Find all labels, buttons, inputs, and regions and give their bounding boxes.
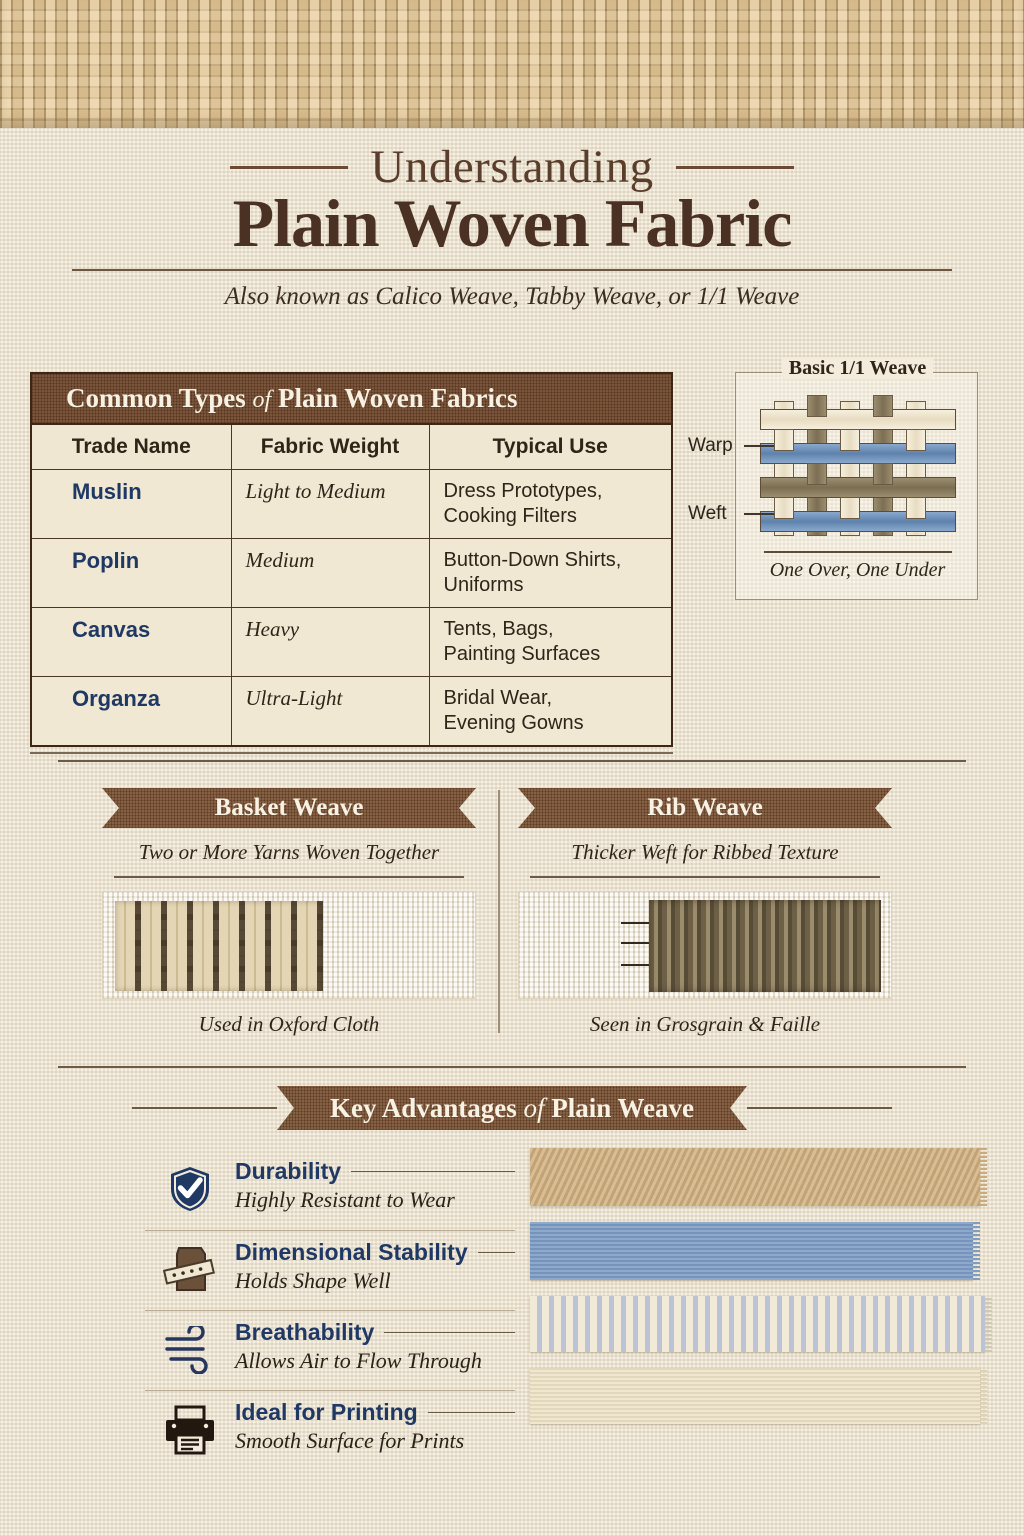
fabric-strip-tan-twill	[530, 1148, 980, 1206]
advantage-detail: Holds Shape Well	[235, 1268, 515, 1294]
weave-footer-rule	[764, 551, 952, 553]
cell-typical-use: Dress Prototypes,Cooking Filters	[429, 470, 672, 539]
rib-weave-caption: Seen in Grosgrain & Faille	[518, 1012, 892, 1037]
fabric-swatch-stack	[530, 1148, 990, 1440]
advantage-underline	[384, 1332, 515, 1333]
advantage-heading: Durability	[235, 1150, 515, 1185]
cell-trade-name: Organza	[31, 677, 231, 747]
advantage-underline	[428, 1412, 515, 1413]
advantage-title: Durability	[235, 1158, 341, 1185]
title-underline	[72, 269, 952, 271]
eyebrow-rule-left	[230, 166, 348, 169]
warp-over-segment	[906, 429, 926, 451]
advantage-detail: Smooth Surface for Prints	[235, 1428, 515, 1454]
rib-weave-description: Thicker Weft for Ribbed Texture	[518, 840, 892, 865]
advantages-banner: Key Advantages of Plain Weave	[277, 1086, 747, 1130]
advantages-banner-row: Key Advantages of Plain Weave	[0, 1086, 1024, 1130]
weave-variants-vertical-divider	[498, 790, 500, 1033]
advantages-rule-right	[747, 1107, 892, 1109]
advantages-heading-main: Key Advantages	[330, 1093, 517, 1123]
advantages-rule-left	[132, 1107, 277, 1109]
fabric-strip-blue-plain	[530, 1222, 973, 1280]
fabric-strip-cream-plain	[530, 1368, 980, 1424]
basket-weave-banner: Basket Weave	[102, 788, 476, 828]
advantage-item-dimensional-stability: Dimensional Stability Holds Shape Well	[145, 1230, 515, 1310]
weft-leader-line	[744, 513, 774, 515]
printer-icon	[159, 1401, 221, 1459]
fabric-types-table-wrap: Common Types of Plain Woven Fabrics Trad…	[30, 372, 673, 754]
table-header-row: Trade Name Fabric Weight Typical Use	[31, 424, 672, 470]
weft-thread	[760, 477, 956, 498]
warp-over-segment	[807, 463, 827, 485]
cell-typical-use: Button-Down Shirts,Uniforms	[429, 539, 672, 608]
column-header-typical-use: Typical Use	[429, 424, 672, 470]
warp-over-segment	[774, 429, 794, 451]
table-heading-of: of	[253, 387, 272, 413]
advantages-heading-rest: Plain Weave	[551, 1093, 694, 1123]
fabric-strip-blue-cream-stripe	[530, 1296, 985, 1352]
cell-typical-use: Tents, Bags,Painting Surfaces	[429, 608, 672, 677]
page-title: Plain Woven Fabric	[0, 188, 1024, 259]
basket-weave-texture	[115, 901, 323, 991]
weave-diagram-grid	[774, 401, 942, 536]
advantage-detail: Allows Air to Flow Through	[235, 1348, 515, 1374]
basket-weave-description: Two or More Yarns Woven Together	[102, 840, 476, 865]
cell-fabric-weight: Heavy	[231, 608, 429, 677]
weave-variant-basket: Basket Weave Two or More Yarns Woven Tog…	[102, 788, 476, 1037]
table-heading-main: Common Types	[66, 383, 246, 413]
weave-diagram-title: Basic 1/1 Weave	[736, 357, 979, 380]
cell-fabric-weight: Ultra-Light	[231, 677, 429, 747]
advantages-list: Durability Highly Resistant to Wear	[145, 1150, 515, 1470]
advantage-heading: Ideal for Printing	[235, 1391, 515, 1426]
advantage-underline	[351, 1171, 515, 1172]
basket-weave-swatch	[102, 891, 476, 999]
advantages-heading-of: of	[523, 1093, 544, 1123]
rib-weave-swatch	[518, 891, 892, 999]
cell-fabric-weight: Medium	[231, 539, 429, 608]
warp-over-segment	[840, 497, 860, 519]
advantage-item-durability: Durability Highly Resistant to Wear	[145, 1150, 515, 1230]
table-row: MuslinLight to MediumDress Prototypes,Co…	[31, 470, 672, 539]
section-divider-bottom	[58, 1066, 966, 1068]
warp-over-segment	[906, 497, 926, 519]
weft-label: Weft	[688, 503, 727, 525]
shield-check-icon	[159, 1160, 221, 1218]
table-row: PoplinMediumButton-Down Shirts,Uniforms	[31, 539, 672, 608]
wind-icon	[159, 1321, 221, 1379]
weave-diagram-footer: One Over, One Under	[736, 559, 979, 582]
advantage-title: Dimensional Stability	[235, 1239, 468, 1266]
rib-weave-fringe	[621, 922, 649, 966]
warp-over-segment	[807, 395, 827, 417]
cell-trade-name: Poplin	[31, 539, 231, 608]
basket-weave-rule	[114, 876, 464, 878]
advantage-item-breathability: Breathability Allows Air to Flow Through	[145, 1310, 515, 1390]
infographic-page: Understanding Plain Woven Fabric Also kn…	[0, 0, 1024, 1536]
section-divider-top	[58, 760, 966, 762]
table-heading: Common Types of Plain Woven Fabrics	[30, 372, 673, 423]
cell-trade-name: Canvas	[31, 608, 231, 677]
column-header-trade-name: Trade Name	[31, 424, 231, 470]
weft-thread	[760, 409, 956, 430]
warp-over-segment	[873, 463, 893, 485]
advantage-heading: Breathability	[235, 1311, 515, 1346]
cell-fabric-weight: Light to Medium	[231, 470, 429, 539]
column-header-fabric-weight: Fabric Weight	[231, 424, 429, 470]
advantage-item-ideal-for-printing: Ideal for Printing Smooth Surface for Pr…	[145, 1390, 515, 1470]
table-row: OrganzaUltra-LightBridal Wear,Evening Go…	[31, 677, 672, 747]
subtitle: Also known as Calico Weave, Tabby Weave,…	[0, 283, 1024, 311]
weave-diagram-panel: Basic 1/1 Weave Warp	[735, 372, 978, 600]
weave-variant-rib: Rib Weave Thicker Weft for Ribbed Textur…	[518, 788, 892, 1037]
title-block: Understanding Plain Woven Fabric Also kn…	[0, 140, 1024, 311]
advantage-title: Breathability	[235, 1319, 374, 1346]
warp-leader-line	[744, 445, 774, 447]
table-row: CanvasHeavyTents, Bags,Painting Surfaces	[31, 608, 672, 677]
rib-weave-rule	[530, 876, 880, 878]
advantage-title: Ideal for Printing	[235, 1399, 418, 1426]
rib-weave-banner: Rib Weave	[518, 788, 892, 828]
ruler-icon	[159, 1241, 221, 1299]
advantage-underline	[478, 1252, 515, 1253]
table-body: MuslinLight to MediumDress Prototypes,Co…	[31, 470, 672, 747]
warp-over-segment	[774, 497, 794, 519]
rib-weave-texture	[649, 900, 881, 992]
basket-weave-caption: Used in Oxford Cloth	[102, 1012, 476, 1037]
warp-over-segment	[840, 429, 860, 451]
table-bottom-rule	[30, 752, 673, 754]
warp-label: Warp	[688, 435, 733, 457]
warp-over-segment	[873, 395, 893, 417]
eyebrow-rule-right	[676, 166, 794, 169]
fabric-types-table: Trade Name Fabric Weight Typical Use Mus…	[30, 423, 673, 747]
table-heading-rest: Plain Woven Fabrics	[278, 383, 518, 413]
cell-trade-name: Muslin	[31, 470, 231, 539]
burlap-texture-header	[0, 0, 1024, 128]
advantage-detail: Highly Resistant to Wear	[235, 1187, 515, 1213]
advantage-heading: Dimensional Stability	[235, 1231, 515, 1266]
cell-typical-use: Bridal Wear,Evening Gowns	[429, 677, 672, 747]
